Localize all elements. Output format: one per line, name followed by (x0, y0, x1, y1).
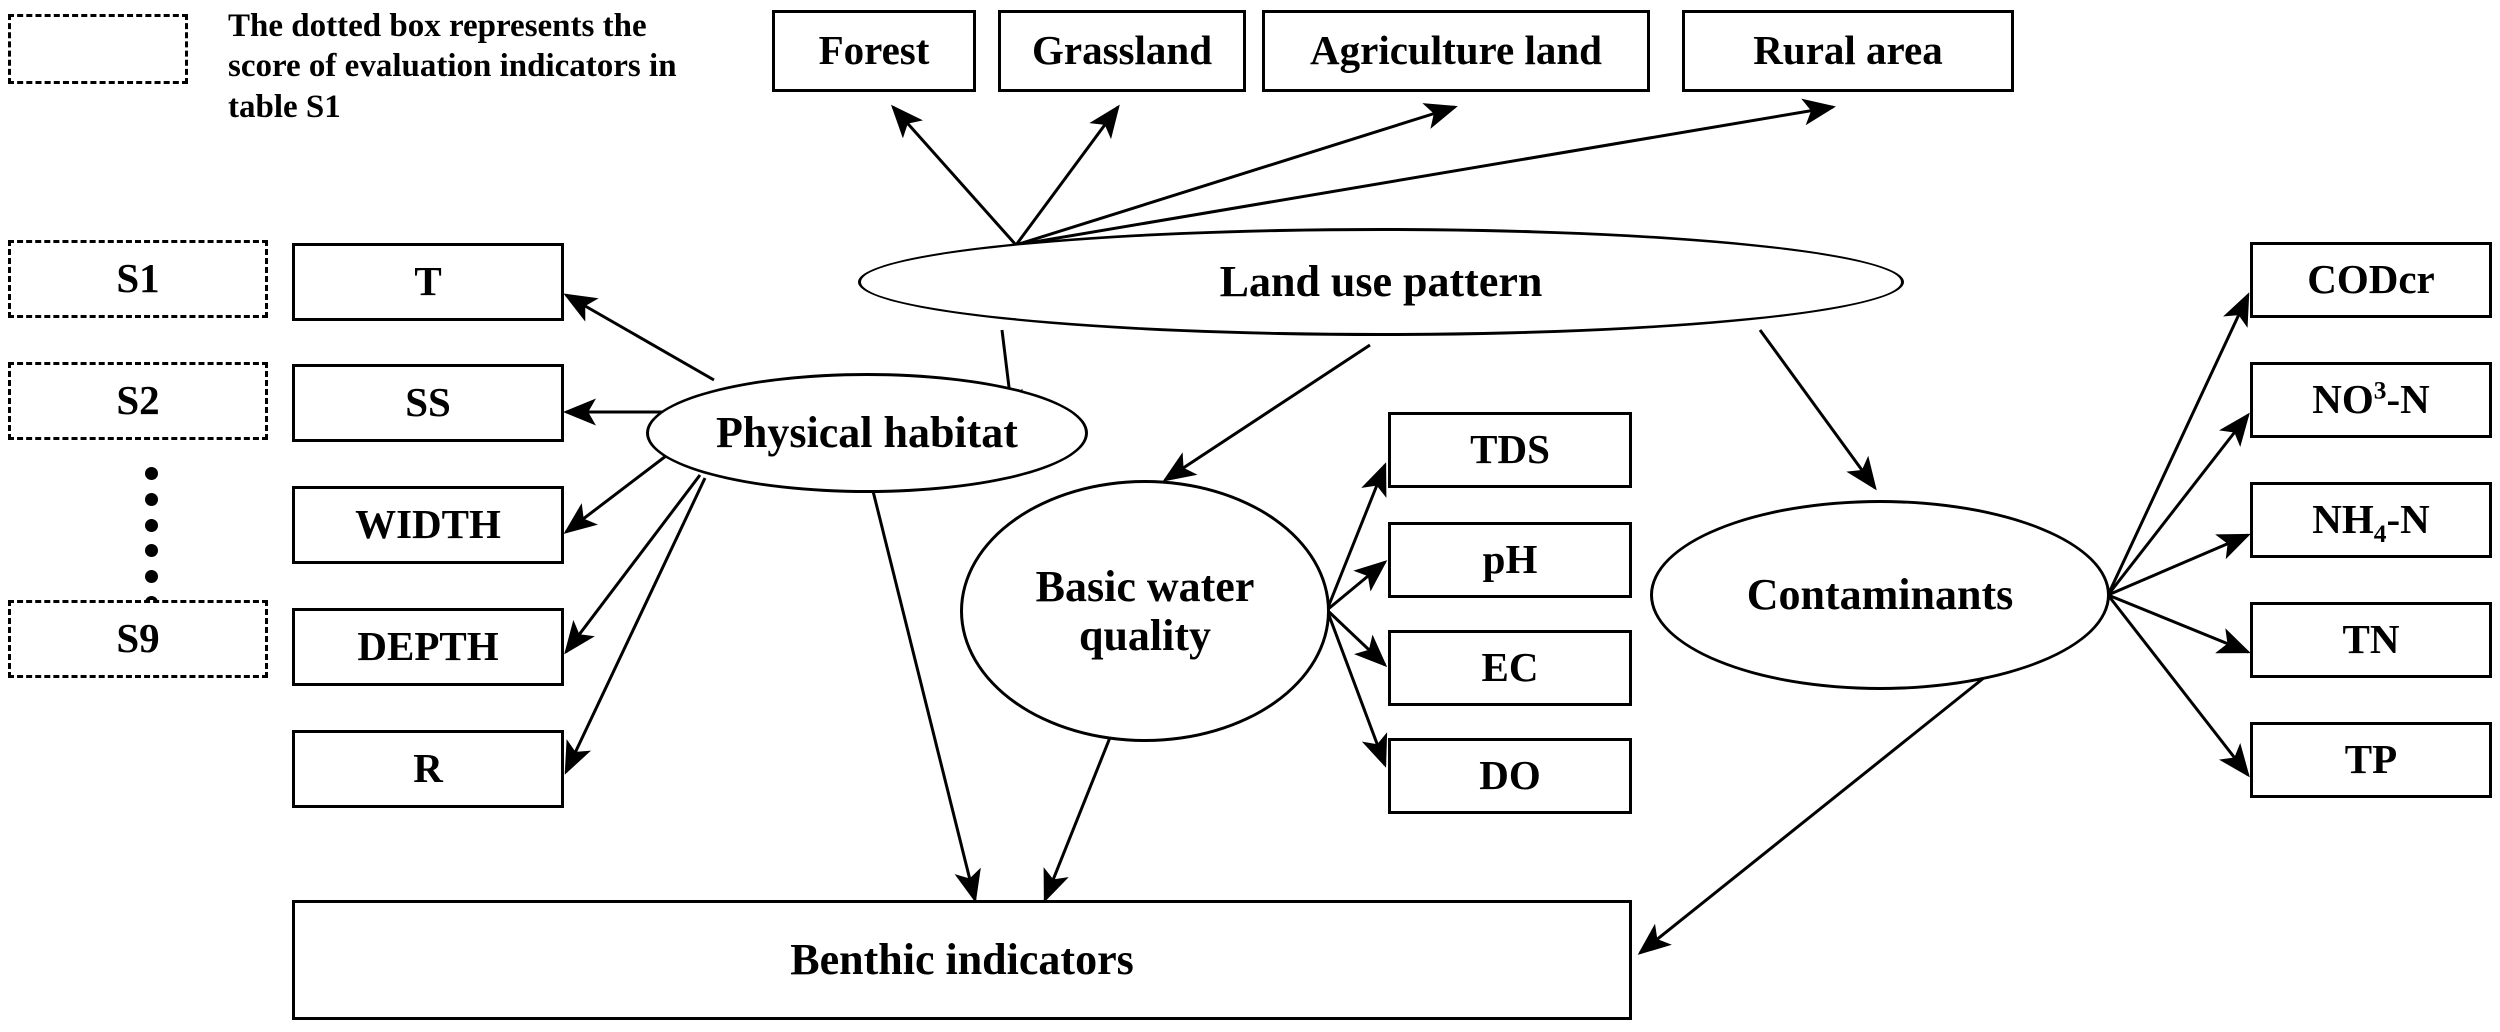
indicator-box-ss: SS (292, 364, 564, 442)
landuse-box-agriculture-land: Agriculture land (1262, 10, 1650, 92)
edge-contaminants-to-tn (2108, 595, 2248, 652)
contaminant-box-codcr-label: CODcr (2307, 256, 2435, 302)
wq-box-tds-label: TDS (1470, 427, 1550, 473)
wq-box-tds: TDS (1388, 412, 1632, 488)
score-box-s9: S9 (8, 600, 268, 678)
ellipse-physical-habitat: Physical habitat (646, 373, 1088, 493)
wq-box-do-label: DO (1479, 753, 1541, 799)
indicator-box-depth-label: DEPTH (357, 624, 498, 670)
edge-bwq-to-ph (1327, 562, 1385, 610)
indicator-box-t-label: T (414, 259, 441, 305)
contaminant-box-nh4n-tail: -N (2386, 496, 2429, 542)
edge-landuse-to-grassland (1016, 107, 1118, 245)
landuse-box-rural-area-label: Rural area (1753, 28, 1942, 74)
contaminant-box-nh4n-base: NH (2312, 496, 2374, 542)
dotted-box-swatch (8, 14, 188, 84)
score-box-s9-label: S9 (116, 616, 159, 662)
indicator-box-width-label: WIDTH (355, 502, 501, 548)
contaminant-box-no3n-tail: -N (2386, 376, 2429, 422)
edge-contaminants-to-benthic (1640, 665, 2000, 953)
score-box-s2: S2 (8, 362, 268, 440)
landuse-box-forest: Forest (772, 10, 976, 92)
edge-landuse-to-contaminants (1760, 330, 1875, 488)
ellipse-land-use-pattern-label: Land use pattern (1220, 257, 1543, 306)
edge-contaminants-to-no3n (2108, 415, 2248, 595)
indicator-box-r-label: R (413, 746, 443, 792)
landuse-box-grassland: Grassland (998, 10, 1246, 92)
contaminant-box-no3n: NO3-N (2250, 362, 2492, 438)
wq-box-ec-label: EC (1482, 645, 1539, 691)
ellipse-contaminants: Contaminants (1650, 500, 2110, 690)
edge-contaminants-to-tp (2108, 595, 2248, 775)
score-box-s1: S1 (8, 240, 268, 318)
indicator-box-width: WIDTH (292, 486, 564, 564)
contaminant-box-tn-label: TN (2343, 617, 2400, 663)
ellipse-contaminants-label: Contaminants (1747, 570, 2014, 619)
diagram-canvas: The dotted box represents the score of e… (0, 0, 2500, 1032)
benthic-indicators-label: Benthic indicators (790, 935, 1133, 984)
contaminant-box-nh4n-subscript: 4 (2374, 520, 2387, 548)
edge-habitat-to-r (566, 478, 705, 772)
edge-landuse-to-forest (893, 107, 1016, 245)
indicator-box-r: R (292, 730, 564, 808)
wq-box-ph-label: pH (1483, 537, 1538, 583)
edge-landuse-to-rural (1016, 107, 1833, 245)
landuse-box-forest-label: Forest (819, 28, 930, 74)
edge-landuse-to-basic-water-quality (1165, 345, 1370, 480)
ellipse-land-use-pattern: Land use pattern (858, 228, 1904, 336)
edge-habitat-to-t (566, 295, 714, 380)
indicator-box-ss-label: SS (405, 380, 451, 426)
contaminant-box-tp-label: TP (2345, 737, 2397, 783)
edge-bwq-to-do (1327, 610, 1385, 765)
ellipse-basic-water-quality-label: Basic water quality (1021, 562, 1269, 661)
indicator-box-depth: DEPTH (292, 608, 564, 686)
score-box-s2-label: S2 (116, 378, 159, 424)
edge-contaminants-to-nh4n (2108, 535, 2248, 595)
landuse-box-agriculture-land-label: Agriculture land (1310, 28, 1602, 74)
contaminant-box-codcr: CODcr (2250, 242, 2492, 318)
edge-habitat-to-depth (566, 475, 700, 652)
contaminant-box-tn: TN (2250, 602, 2492, 678)
wq-box-ph: pH (1388, 522, 1632, 598)
ellipse-physical-habitat-label: Physical habitat (716, 408, 1018, 457)
edge-habitat-to-benthic (872, 487, 975, 900)
contaminant-box-no3n-base: NO (2312, 376, 2374, 422)
contaminant-box-no3n-superscript: 3 (2374, 376, 2387, 404)
contaminant-box-tp: TP (2250, 722, 2492, 798)
ellipse-basic-water-quality: Basic water quality (960, 480, 1330, 742)
wq-box-ec: EC (1388, 630, 1632, 706)
landuse-box-grassland-label: Grassland (1032, 28, 1212, 74)
landuse-box-rural-area: Rural area (1682, 10, 2014, 92)
contaminant-box-nh4n: NH4-N (2250, 482, 2492, 558)
wq-box-do: DO (1388, 738, 1632, 814)
vertical-dots-icon (144, 467, 158, 609)
indicator-box-t: T (292, 243, 564, 321)
edge-bwq-to-tds (1327, 465, 1385, 610)
legend-caption: The dotted box represents the score of e… (228, 6, 698, 127)
benthic-indicators-box: Benthic indicators (292, 900, 1632, 1020)
edge-contaminants-to-codcr (2108, 295, 2248, 595)
edge-bwq-to-ec (1327, 610, 1385, 665)
score-box-s1-label: S1 (116, 256, 159, 302)
edge-landuse-to-agriculture (1016, 107, 1455, 245)
